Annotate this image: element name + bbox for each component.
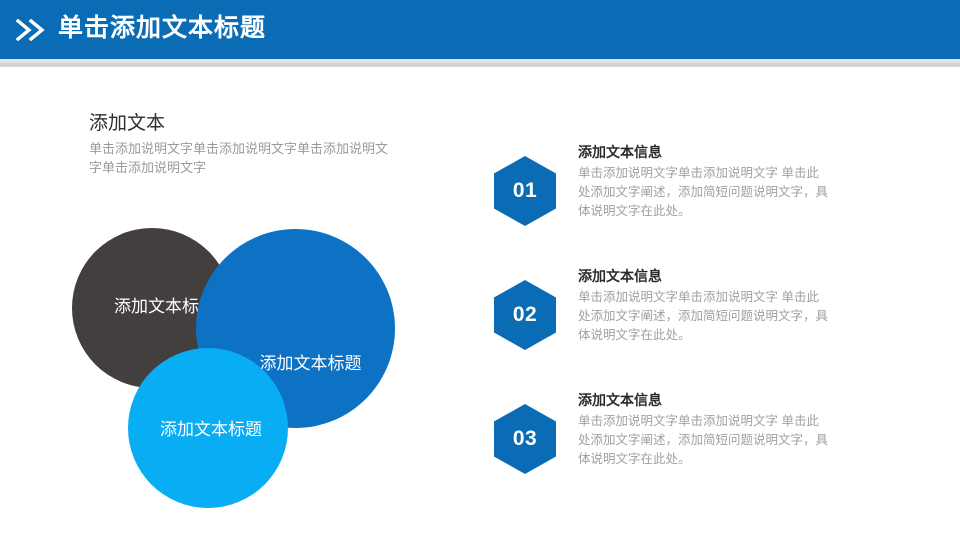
- hexagon-badge-icon: 03: [494, 404, 556, 474]
- list-item[interactable]: 01 添加文本信息 单击添加说明文字单击添加说明文字 单击此处添加文字阐述，添加…: [488, 138, 918, 262]
- list-item-text: 添加文本信息 单击添加说明文字单击添加说明文字 单击此处添加文字阐述，添加简短问…: [578, 267, 828, 344]
- list-item-title: 添加文本信息: [578, 143, 828, 161]
- list-item-title: 添加文本信息: [578, 267, 828, 285]
- circle-diagram: 添加文本标题 添加文本标题 添加文本标题: [0, 0, 470, 540]
- hexagon-badge-icon: 01: [494, 156, 556, 226]
- list-item[interactable]: 02 添加文本信息 单击添加说明文字单击添加说明文字 单击此处添加文字阐述，添加…: [488, 262, 918, 386]
- list-item-text: 添加文本信息 单击添加说明文字单击添加说明文字 单击此处添加文字阐述，添加简短问…: [578, 391, 828, 468]
- list-item-body: 单击添加说明文字单击添加说明文字 单击此处添加文字阐述，添加简短问题说明文字，具…: [578, 412, 828, 468]
- list-item-title: 添加文本信息: [578, 391, 828, 409]
- right-info-list: 01 添加文本信息 单击添加说明文字单击添加说明文字 单击此处添加文字阐述，添加…: [488, 138, 918, 510]
- list-item-body: 单击添加说明文字单击添加说明文字 单击此处添加文字阐述，添加简短问题说明文字，具…: [578, 288, 828, 344]
- circle-cyan[interactable]: 添加文本标题: [128, 348, 288, 508]
- list-item-text: 添加文本信息 单击添加说明文字单击添加说明文字 单击此处添加文字阐述，添加简短问…: [578, 143, 828, 220]
- list-item-number: 02: [494, 280, 556, 350]
- list-item-number: 03: [494, 404, 556, 474]
- list-item-number: 01: [494, 156, 556, 226]
- hexagon-badge-icon: 02: [494, 280, 556, 350]
- list-item[interactable]: 03 添加文本信息 单击添加说明文字单击添加说明文字 单击此处添加文字阐述，添加…: [488, 386, 918, 510]
- circle-cyan-label: 添加文本标题: [154, 415, 262, 441]
- list-item-body: 单击添加说明文字单击添加说明文字 单击此处添加文字阐述，添加简短问题说明文字，具…: [578, 164, 828, 220]
